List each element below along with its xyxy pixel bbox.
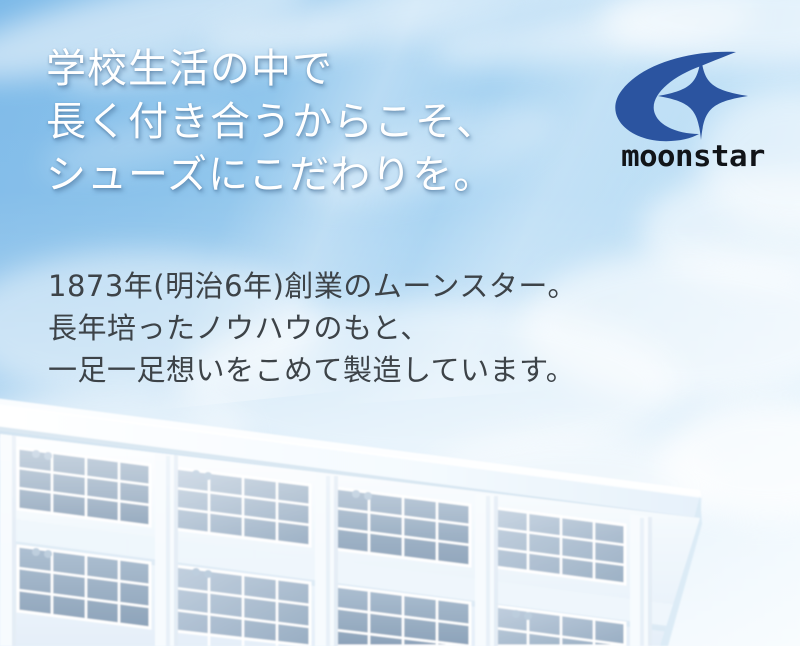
moonstar-mark-svg (598, 48, 788, 144)
moonstar-crescent-star-icon (598, 48, 788, 144)
headline-line-1: 学校生活の中で (46, 42, 497, 95)
headline: 学校生活の中で 長く付き合うからこそ、 シューズにこだわりを。 (46, 42, 497, 201)
banner-root: 学校生活の中で 長く付き合うからこそ、 シューズにこだわりを。 1873年(明治… (0, 0, 800, 646)
body-line-1: 1873年(明治6年)創業のムーンスター。 (48, 265, 577, 307)
moonstar-logo[interactable]: moonstar (598, 48, 788, 176)
headline-line-2: 長く付き合うからこそ、 (46, 95, 497, 148)
headline-line-3: シューズにこだわりを。 (46, 148, 497, 201)
school-building-illustration (0, 396, 800, 646)
cloud-wisp (640, 170, 800, 290)
school-building-photo (0, 396, 800, 646)
moonstar-wordmark: moonstar (592, 140, 793, 172)
body-line-3: 一足一足想いをこめて製造しています。 (48, 349, 577, 391)
body-copy: 1873年(明治6年)創業のムーンスター。 長年培ったノウハウのもと、 一足一足… (48, 265, 577, 391)
body-line-2: 長年培ったノウハウのもと、 (48, 307, 577, 349)
